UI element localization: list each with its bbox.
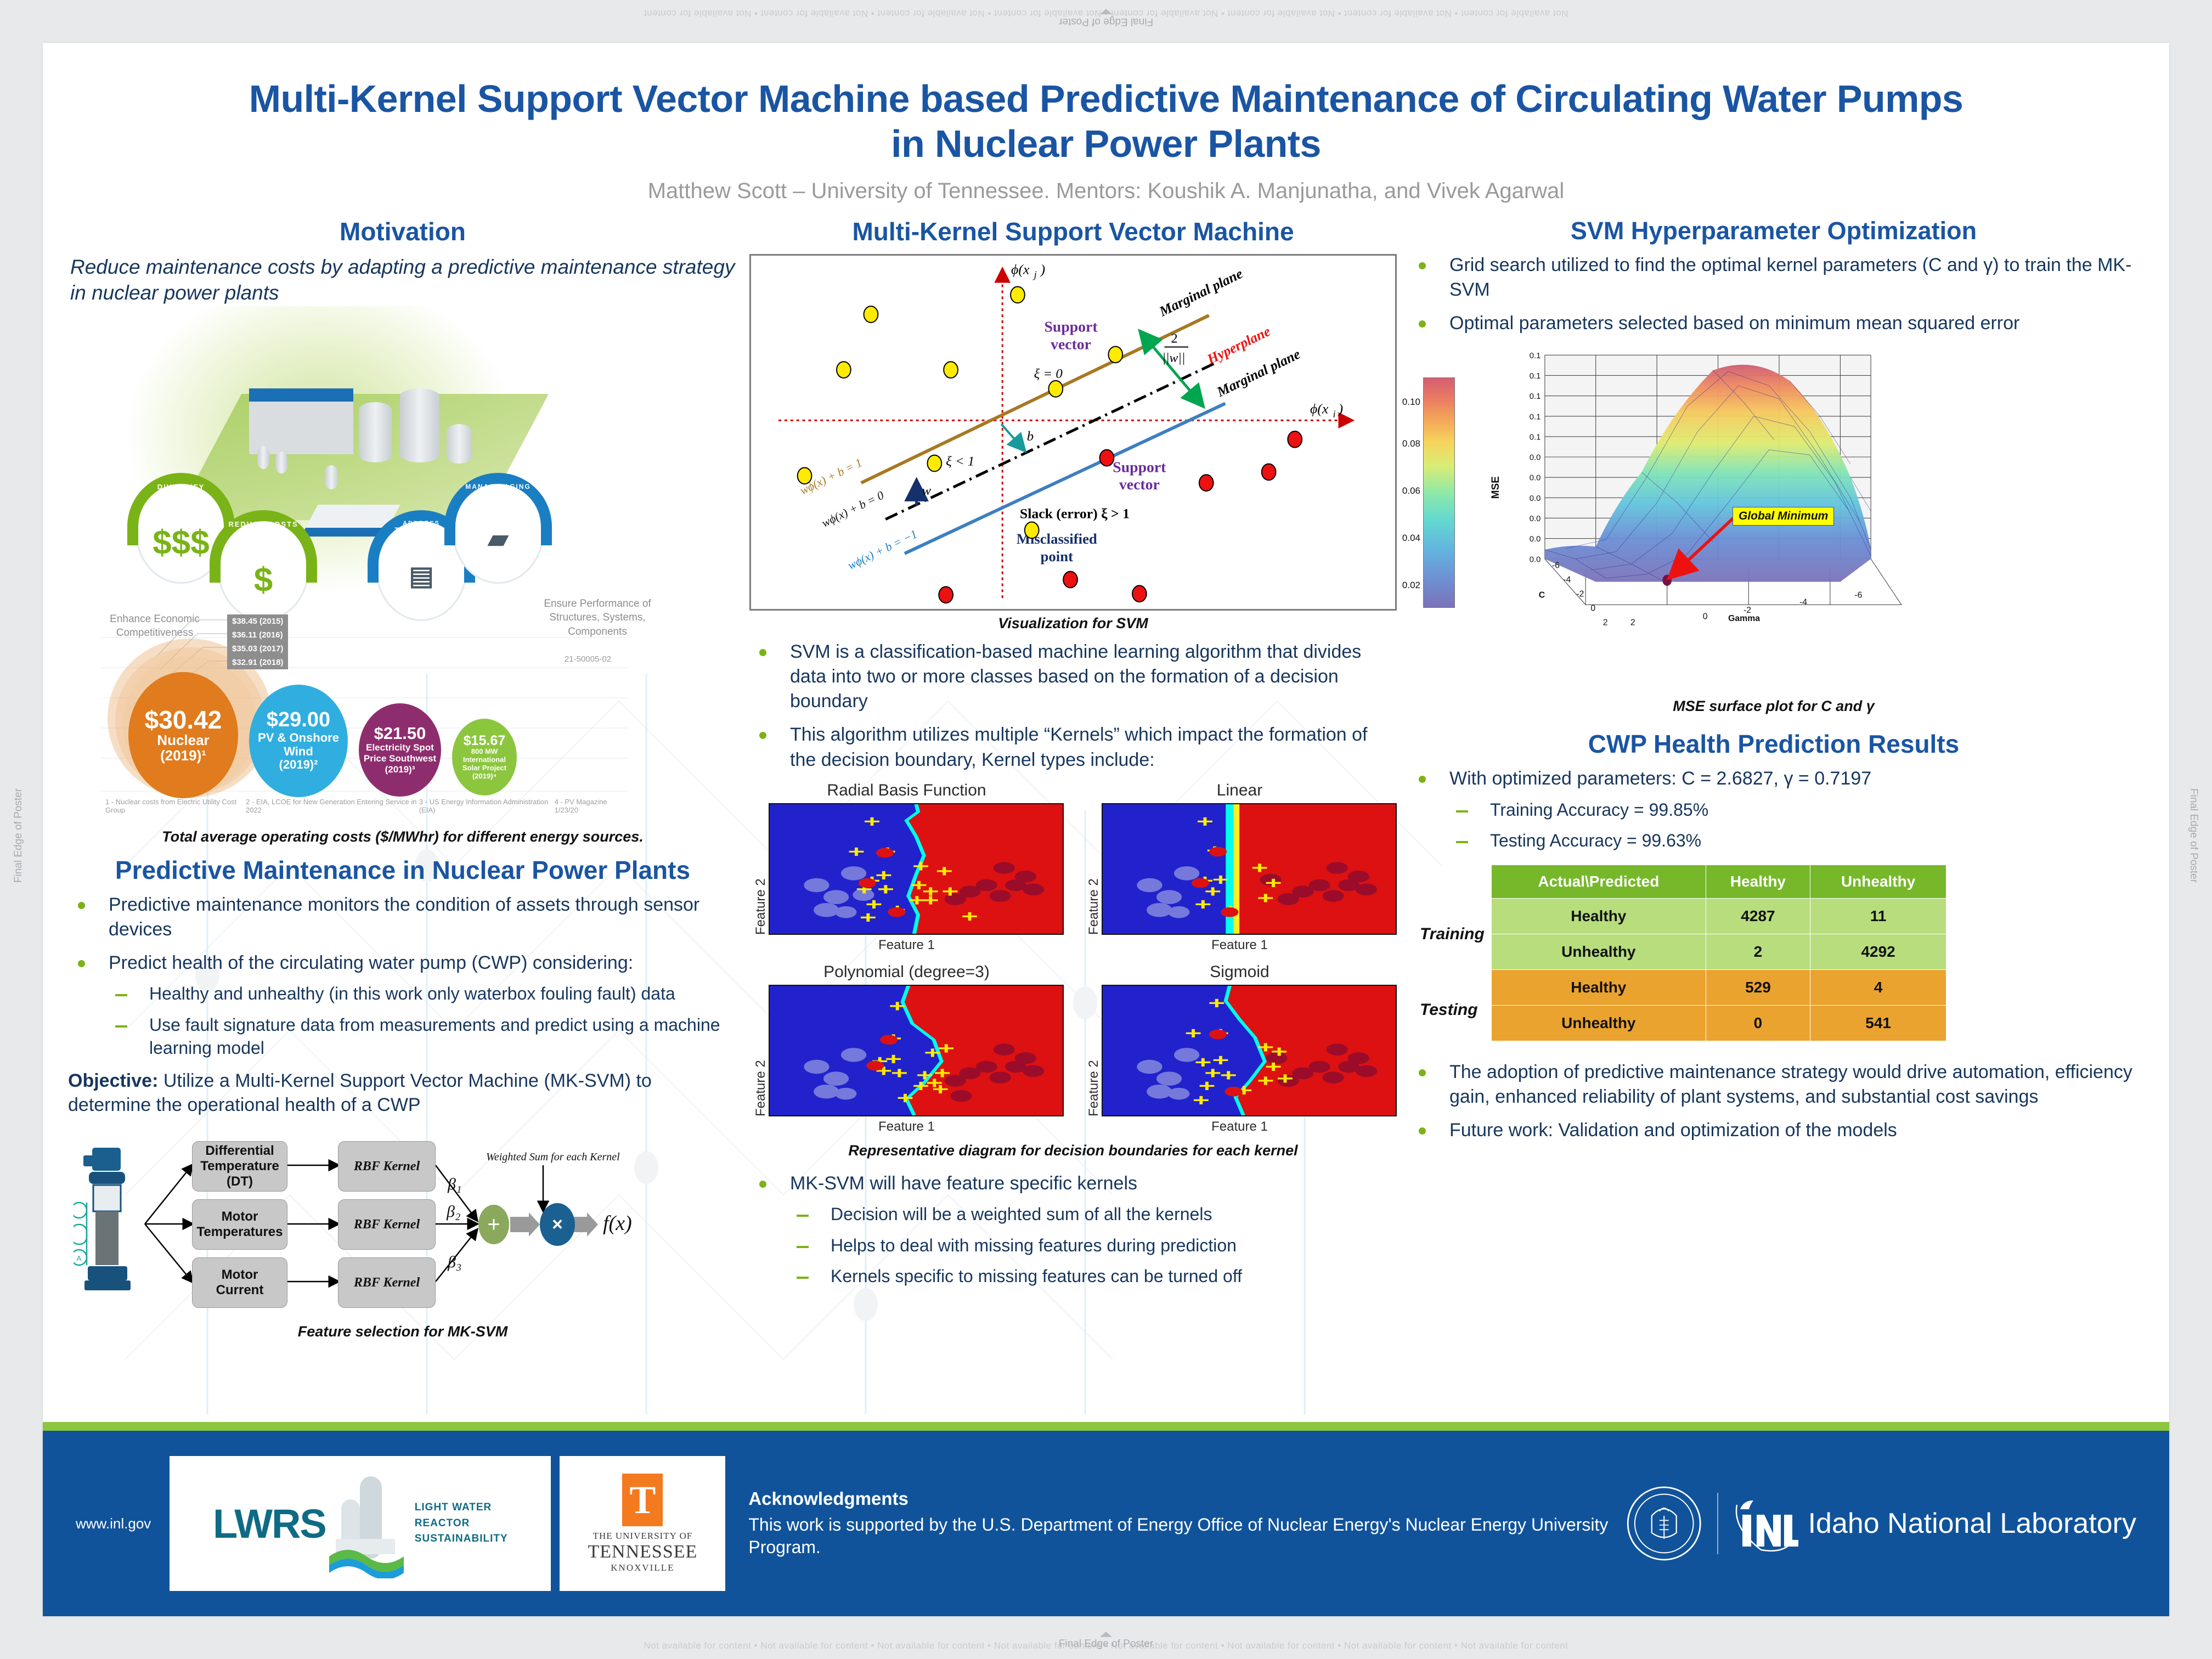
lwrs-logo: LWRS LIGHT WATER REACTOR SUSTAINABILITY	[170, 1456, 551, 1591]
callout-2017: $35.03 (2017)	[227, 642, 288, 656]
colorbar-tick: 0.04	[1402, 533, 1420, 544]
svm-plot: ϕ(x j ) ϕ(x i ) 2 ||w||	[751, 256, 1395, 609]
motivation-lead-text: Reduce maintenance costs by adapting a p…	[68, 254, 737, 311]
feature-box-motor-current: Motor Current	[192, 1257, 287, 1308]
svg-text:2: 2	[1630, 618, 1635, 628]
bullet-item: The adoption of predictive maintenance s…	[1409, 1060, 2138, 1109]
bubble-label: Electricity Spot Price Southwest (2019)³	[364, 742, 436, 775]
svg-text:-4: -4	[1563, 575, 1571, 585]
svg-text:0.1: 0.1	[1530, 352, 1541, 360]
svg-text:Gamma: Gamma	[1728, 614, 1760, 623]
sub-bullet-item: Helps to deal with missing features duri…	[790, 1234, 1397, 1257]
lwrs-wordmark: LWRS	[213, 1500, 326, 1547]
svg-text:+: +	[891, 1064, 908, 1082]
bullet-item: Predict health of the circulating water …	[68, 951, 737, 1060]
svg-text:+: +	[1277, 1070, 1294, 1088]
kernel-plot-area: +++ +++ +++ +++ ++	[769, 985, 1064, 1116]
kernel-decision-boundary-panels: Radial Basis Function Feature 2	[749, 781, 1397, 1135]
svg-text:Support: Support	[1044, 318, 1098, 335]
kernel-plot-area: +++ +++ +++ +++ +++	[1102, 985, 1397, 1116]
svg-text:0.0: 0.0	[1530, 556, 1541, 565]
colorbar-tick: 0.10	[1402, 397, 1420, 408]
svg-text:Support: Support	[1113, 459, 1166, 476]
svg-text:+: +	[936, 862, 953, 881]
feature-box-motor-temperatures: Motor Temperatures	[192, 1199, 287, 1250]
kernel-y-axis-label: Feature 2	[1082, 985, 1102, 1116]
svg-text:i: i	[1333, 408, 1336, 419]
svg-text:-6: -6	[1552, 561, 1560, 571]
bubble-value: $21.50	[374, 725, 426, 743]
column-left: Motivation Reduce maintenance costs by a…	[68, 217, 737, 1340]
svg-text:+: +	[1193, 1091, 1210, 1109]
svg-text:point: point	[1041, 548, 1074, 565]
mk-svm-feature-flow-diagram: A	[68, 1122, 737, 1325]
kernel-plot-area: +++ +++ +++ +++ +++ +++	[769, 803, 1064, 935]
beta-1-label: β₁	[448, 1175, 461, 1194]
containment-dome-icon	[400, 388, 439, 462]
svg-text:+: +	[1185, 1024, 1202, 1042]
bubble-label: 800 MW International Solar Project (2019…	[462, 748, 506, 781]
svg-text:): )	[1040, 261, 1046, 277]
svg-text:0.0: 0.0	[1530, 494, 1541, 503]
small-tank-icon	[275, 452, 287, 473]
university-of-tennessee-logo: T THE UNIVERSITY OF TENNESSEE KNOXVILLE	[560, 1456, 725, 1591]
row-group-label-testing: Testing	[1420, 1001, 1478, 1019]
sub-bullet-item: Kernels specific to missing features can…	[790, 1265, 1397, 1288]
svg-text:+: +	[1197, 812, 1214, 831]
surface-plot-caption: MSE surface plot for C and γ	[1409, 698, 2138, 715]
svg-text:+: +	[1257, 1072, 1274, 1090]
confusion-matrix-table: Actual\Predicted Healthy Unhealthy Healt…	[1491, 865, 1946, 1041]
material-sample-icon: ▰	[452, 523, 544, 554]
results-bullets: With optimized parameters: C = 2.6827, γ…	[1409, 766, 2138, 852]
reactor-tower-icon	[326, 1469, 408, 1578]
bullet-item: Predictive maintenance monitors the cond…	[68, 893, 737, 942]
ut-line-2: TENNESSEE	[588, 1542, 698, 1562]
svg-text:+: +	[941, 883, 958, 901]
acknowledgments-text: This work is supported by the U.S. Depar…	[748, 1514, 1626, 1559]
bullet-item: Optimal parameters selected based on min…	[1409, 311, 2138, 336]
ut-line-3: KNOXVILLE	[588, 1562, 698, 1573]
bubble-value: $29.00	[267, 709, 330, 731]
lwrs-sub-line-1: LIGHT WATER	[415, 1500, 508, 1516]
sub-bullet-item: Decision will be a weighted sum of all t…	[790, 1203, 1397, 1226]
svg-text:b: b	[1027, 429, 1034, 444]
ut-power-t-icon: T	[622, 1474, 663, 1526]
svg-text:0: 0	[1590, 604, 1595, 613]
svg-text:+: +	[922, 891, 939, 910]
objective-label: Objective:	[68, 1070, 158, 1091]
bubble-value: $15.67	[464, 733, 505, 748]
svg-text:+: +	[961, 907, 978, 926]
global-minimum-annotation: Global Minimum	[1733, 507, 1834, 526]
kernel-panel-sigmoid: Sigmoid Feature 2	[1082, 963, 1397, 1135]
svg-text:0.0: 0.0	[1530, 515, 1541, 523]
colorbar-tick: 0.08	[1402, 438, 1420, 449]
svg-text:-6: -6	[1854, 591, 1862, 600]
bubble-label: PV & Onshore Wind (2019)²	[258, 731, 339, 772]
kernel-panel-title: Linear	[1082, 781, 1397, 800]
operating-cost-bubble-chart: $38.45 (2015) $36.11 (2016) $35.03 (2017…	[68, 605, 737, 824]
section-heading-mk-svm: Multi-Kernel Support Vector Machine	[749, 217, 1397, 246]
kernel-x-axis-label: Feature 1	[749, 1119, 1064, 1135]
svg-text:w: w	[922, 483, 932, 498]
flow-diagram-caption: Feature selection for MK-SVM	[68, 1323, 737, 1340]
colorbar-tick: 0.06	[1402, 486, 1420, 496]
svg-text:0.1: 0.1	[1530, 393, 1541, 402]
table-row: Healthy 529 4	[1492, 969, 1946, 1005]
section-heading-predictive-maintenance: Predictive Maintenance in Nuclear Power …	[68, 855, 737, 885]
svg-text:0.0: 0.0	[1530, 535, 1541, 544]
multiply-node: ×	[540, 1203, 575, 1246]
cell-actual: Healthy	[1492, 969, 1706, 1005]
cell-unhealthy: 4292	[1810, 934, 1946, 969]
ut-line-1: THE UNIVERSITY OF	[588, 1531, 698, 1542]
triangle-icon	[1100, 1632, 1112, 1637]
kernel-panels-caption: Representative diagram for decision boun…	[749, 1142, 1397, 1159]
bullet-text: Predictive maintenance monitors the cond…	[109, 894, 699, 940]
edge-marker-bottom: Final Edge of Poster	[1059, 1632, 1153, 1650]
svg-text:0.1: 0.1	[1530, 413, 1541, 422]
poster-columns: Motivation Reduce maintenance costs by a…	[43, 217, 2169, 1340]
row-group-label-training: Training	[1420, 925, 1485, 944]
svg-text:-2: -2	[1576, 590, 1584, 599]
svg-text:+: +	[1220, 1066, 1237, 1085]
svm-description-bullets: SVM is a classification-based machine le…	[749, 640, 1397, 772]
edge-marker-top: Final Edge of Poster	[1059, 9, 1153, 27]
sub-bullet-item: Testing Accuracy = 99.63%	[1449, 829, 2138, 853]
bullet-item: This algorithm utilizes multiple “Kernel…	[749, 723, 1397, 772]
bubble-chart-caption: Total average operating costs ($/MWhr) f…	[68, 828, 737, 845]
svg-text:+: +	[1194, 896, 1211, 914]
svm-figure-caption: Visualization for SVM	[749, 615, 1397, 632]
bullet-item: SVM is a classification-based machine le…	[749, 640, 1397, 714]
svg-text:+: +	[932, 1081, 949, 1099]
svg-text:0: 0	[1703, 612, 1708, 622]
bullet-text: Predict health of the circulating water …	[109, 952, 633, 973]
mse-axis-label: MSE	[1490, 476, 1502, 499]
svg-text:j: j	[1033, 269, 1037, 280]
sum-node: +	[478, 1205, 509, 1244]
svg-text:+: +	[848, 843, 865, 861]
mse-surface-plot: 0.02 0.04 0.06 0.08 0.10	[1409, 345, 2138, 696]
colorbar-tick: 0.02	[1402, 580, 1420, 591]
tank-icon	[447, 424, 472, 464]
inl-logo: Idaho National Laboratory	[1717, 1493, 2136, 1554]
title-line-1: Multi-Kernel Support Vector Machine base…	[249, 77, 1963, 120]
circle-label: MANAGE AGING MATERIALS	[452, 483, 544, 498]
section-heading-hyperparameter-optimization: SVM Hyperparameter Optimization	[1409, 217, 2138, 245]
callout-2018: $32.91 (2018)	[227, 656, 288, 669]
svg-text:ξ = 0: ξ = 0	[1034, 366, 1063, 381]
svg-text:Marginal plane: Marginal plane	[1156, 266, 1245, 320]
kernel-box-2: RBF Kernel	[338, 1199, 436, 1250]
table-header-row: Actual\Predicted Healthy Unhealthy	[1492, 865, 1946, 898]
cell-healthy: 0	[1706, 1005, 1810, 1041]
bullet-text: With optimized parameters: C = 2.6827, γ…	[1449, 768, 1871, 789]
table-row: Healthy 4287 11	[1492, 898, 1946, 934]
doe-seal-icon	[1626, 1482, 1702, 1565]
kernel-box-1: RBF Kernel	[338, 1141, 436, 1192]
bullet-item: Grid search utilized to find the optimal…	[1409, 253, 2138, 302]
circle-label: DIVERSIFY REVENUE	[135, 483, 227, 499]
sub-bullets: Decision will be a weighted sum of all t…	[790, 1203, 1397, 1288]
circle-label: REDUCE COSTS	[217, 520, 309, 528]
svg-text:0.0: 0.0	[1530, 454, 1541, 462]
sub-bullet-item: Healthy and unhealthy (in this work only…	[109, 982, 737, 1006]
cell-healthy: 529	[1706, 969, 1810, 1005]
svg-text:C: C	[1539, 591, 1545, 600]
svg-text:2: 2	[1171, 331, 1177, 346]
bubble-nuclear: $30.42 Nuclear (2019)¹	[128, 672, 238, 798]
weighted-sum-note: Weighted Sum for each Kernel	[486, 1151, 620, 1164]
column-header-unhealthy: Unhealthy	[1810, 865, 1946, 898]
svg-text:+: +	[938, 1040, 955, 1058]
table-row: Unhealthy 2 4292	[1492, 934, 1946, 969]
section-heading-results: CWP Health Prediction Results	[1409, 729, 2138, 759]
cell-unhealthy: 541	[1810, 1005, 1946, 1041]
svg-text:+: +	[1208, 994, 1225, 1012]
output-fx-label: f(x)	[603, 1211, 632, 1235]
svg-text:+: +	[889, 997, 906, 1015]
svg-text:vector: vector	[1051, 336, 1091, 353]
inl-name-label: Idaho National Laboratory	[1808, 1507, 2136, 1540]
svg-text:ξ < 1: ξ < 1	[946, 454, 974, 469]
bubble-chart-footnotes: 1 - Nuclear costs from Electric Utility …	[105, 798, 627, 814]
confusion-matrix-wrapper: Training Testing Actual\Predicted Health…	[1409, 865, 2138, 1041]
svg-text:wϕ(x) + b = 0: wϕ(x) + b = 0	[820, 488, 886, 530]
predictive-maintenance-bullets: Predictive maintenance monitors the cond…	[68, 893, 737, 1060]
callout-2015: $38.45 (2015)	[227, 614, 288, 628]
nuclear-plant-illustration: DIVERSIFY REVENUE $$$ REDUCE COSTS $ ADD…	[68, 312, 737, 597]
kernel-y-axis-label: Feature 2	[749, 985, 769, 1116]
poster-footer: www.inl.gov LWRS LIGHT WATER REACTOR SUS…	[43, 1431, 2169, 1616]
reactor-building-icon	[249, 388, 353, 454]
svg-text:-4: -4	[1799, 598, 1807, 607]
cell-healthy: 2	[1706, 934, 1810, 969]
svg-text:+: +	[864, 812, 881, 831]
green-divider-bar	[43, 1422, 2169, 1431]
kernel-plot-wrap: Feature 2	[749, 985, 1064, 1116]
column-right: SVM Hyperparameter Optimization Grid sea…	[1409, 217, 2138, 1152]
feature-box-differential-temperature: Differential Temperature (DT)	[192, 1141, 287, 1192]
kernel-panel-title: Radial Basis Function	[749, 781, 1064, 800]
kernel-x-axis-label: Feature 1	[1082, 1119, 1397, 1135]
sub-bullet-item: Use fault signature data from measuremen…	[109, 1013, 737, 1060]
small-tank-icon	[325, 465, 338, 489]
svg-text:): )	[1337, 400, 1343, 416]
cell-healthy: 4287	[1706, 898, 1810, 934]
sub-bullets: Training Accuracy = 99.85% Testing Accur…	[1449, 798, 2138, 853]
cell-unhealthy: 4	[1810, 969, 1946, 1005]
kernel-y-axis-label: Feature 2	[749, 803, 769, 935]
svg-text:2: 2	[1603, 618, 1608, 628]
page-title: Multi-Kernel Support Vector Machine base…	[43, 77, 2169, 167]
sub-bullet-item: Training Accuracy = 99.85%	[1449, 798, 2138, 822]
footnote-4: 4 - PV Magazine 1/23/20	[555, 798, 627, 814]
objective-statement: Objective: Utilize a Multi-Kernel Suppor…	[68, 1069, 737, 1117]
kernel-panel-title: Polynomial (degree=3)	[749, 963, 1064, 981]
cell-unhealthy: 11	[1810, 898, 1946, 934]
lwrs-sub-line-3: SUSTAINABILITY	[415, 1531, 508, 1547]
beta-2-label: β₂	[447, 1203, 460, 1221]
small-tank-icon	[257, 446, 269, 469]
beta-3-label: β₃	[448, 1253, 461, 1272]
bullet-item: With optimized parameters: C = 2.6827, γ…	[1409, 766, 2138, 852]
callout-2016: $36.11 (2016)	[227, 628, 288, 642]
bubble-value: $30.42	[145, 707, 222, 733]
column-middle: Multi-Kernel Support Vector Machine	[749, 217, 1397, 1297]
section-heading-motivation: Motivation	[68, 217, 737, 246]
inl-mark-icon	[1733, 1493, 1798, 1554]
footnote-2: 2 - EIA, LCOE for New Generation Enterin…	[246, 798, 419, 814]
svg-text:||w||: ||w||	[1162, 351, 1185, 365]
bullet-text: MK-SVM will have feature specific kernel…	[790, 1173, 1137, 1194]
bubble-electricity-spot-price: $21.50 Electricity Spot Price Southwest …	[359, 703, 441, 797]
edge-marker-top-label: Final Edge of Poster	[1059, 16, 1153, 27]
svm-visualization-figure: ϕ(x j ) ϕ(x i ) 2 ||w||	[749, 254, 1397, 611]
surface-3d-axes: 0.10.1 0.10.1 0.10.0 0.00.0 0.00.0 0.0 -…	[1499, 350, 1916, 635]
cell-actual: Unhealthy	[1492, 1005, 1706, 1041]
kernel-plot-wrap: Feature 2	[749, 803, 1064, 935]
lwrs-subtitle: LIGHT WATER REACTOR SUSTAINABILITY	[415, 1500, 508, 1547]
footnote-1: 1 - Nuclear costs from Electric Utility …	[105, 798, 246, 814]
svg-text:0.0: 0.0	[1530, 474, 1541, 483]
poster-canvas: Multi-Kernel Support Vector Machine base…	[43, 43, 2169, 1616]
sub-bullets: Healthy and unhealthy (in this work only…	[109, 982, 737, 1060]
edge-marker-left: Final Edge of Poster	[13, 788, 25, 883]
triangle-icon	[1100, 9, 1112, 14]
title-line-2: in Nuclear Power Plants	[891, 122, 1321, 165]
bubble-pv-onshore-wind: $29.00 PV & Onshore Wind (2019)²	[249, 685, 348, 797]
svg-text:Hyperplane: Hyperplane	[1204, 323, 1273, 368]
circle-manage-aging-materials: MANAGE AGING MATERIALS ▰	[452, 476, 544, 584]
svg-text:Slack (error) ξ > 1: Slack (error) ξ > 1	[1020, 505, 1130, 521]
svg-text:+: +	[1257, 889, 1274, 907]
column-header-healthy: Healthy	[1706, 865, 1810, 898]
authors-line: Matthew Scott – University of Tennessee.…	[43, 179, 2169, 204]
bubble-label: Nuclear (2019)¹	[157, 733, 209, 763]
mk-svm-bullets: MK-SVM will have feature specific kernel…	[749, 1171, 1397, 1288]
hyperparameter-bullets: Grid search utilized to find the optimal…	[1409, 253, 2138, 336]
footnote-3: 3 - US Energy Information Administration…	[419, 798, 555, 814]
kernel-panel-polynomial: Polynomial (degree=3) Feature 2	[749, 963, 1064, 1135]
kernel-x-axis-label: Feature 1	[1082, 938, 1397, 953]
svg-text:vector: vector	[1119, 476, 1160, 493]
kernel-plot-wrap: Feature 2	[1082, 985, 1397, 1116]
colorbar: 0.02 0.04 0.06 0.08 0.10	[1423, 377, 1455, 608]
kernel-box-3: RBF Kernel	[338, 1257, 436, 1308]
bubble-solar-project: $15.67 800 MW International Solar Projec…	[452, 719, 517, 795]
acknowledgments-block: Acknowledgments This work is supported b…	[748, 1488, 1626, 1559]
dollar-down-arrow-icon: $	[217, 561, 309, 600]
kernel-panel-title: Sigmoid	[1082, 963, 1397, 981]
kernel-x-axis-label: Feature 1	[749, 938, 1064, 953]
cell-actual: Unhealthy	[1492, 934, 1706, 969]
conclusion-bullets: The adoption of predictive maintenance s…	[1409, 1060, 2138, 1143]
kernel-plot-wrap: Feature 2	[1082, 803, 1397, 935]
column-header-actual-predicted: Actual\Predicted	[1492, 865, 1706, 898]
svg-text:+: +	[860, 909, 877, 927]
svg-text:ϕ(x: ϕ(x	[1310, 400, 1329, 416]
bullet-item: MK-SVM will have feature specific kernel…	[749, 1171, 1397, 1288]
kernel-plot-area: +++ +++ +++ +	[1102, 803, 1397, 935]
inl-url-link[interactable]: www.inl.gov	[76, 1515, 151, 1532]
poster-header: Multi-Kernel Support Vector Machine base…	[43, 43, 2169, 204]
svg-text:+: +	[896, 1089, 913, 1107]
colorbar-ticks: 0.02 0.04 0.06 0.08 0.10	[1385, 378, 1420, 607]
cell-actual: Healthy	[1492, 898, 1706, 934]
lwrs-sub-line-2: REACTOR	[415, 1516, 508, 1532]
svg-text:0.1: 0.1	[1530, 372, 1541, 381]
edge-marker-right: Final Edge of Poster	[2187, 788, 2199, 883]
acknowledgments-title: Acknowledgments	[748, 1488, 1626, 1509]
bullet-item: Future work: Validation and optimization…	[1409, 1118, 2138, 1143]
svg-text:wϕ(x) + b = −1: wϕ(x) + b = −1	[845, 527, 919, 572]
kernel-panel-rbf: Radial Basis Function Feature 2	[749, 781, 1064, 953]
kernel-panel-linear: Linear Feature 2	[1082, 781, 1397, 953]
svg-text:0.1: 0.1	[1530, 433, 1541, 442]
table-row: Unhealthy 0 541	[1492, 1005, 1946, 1041]
cooling-tower-icon	[359, 402, 392, 462]
edge-marker-bottom-label: Final Edge of Poster	[1059, 1638, 1153, 1650]
svg-text:ϕ(x: ϕ(x	[1011, 261, 1030, 277]
svg-text:+: +	[912, 857, 929, 876]
kernel-y-axis-label: Feature 2	[1082, 803, 1102, 935]
